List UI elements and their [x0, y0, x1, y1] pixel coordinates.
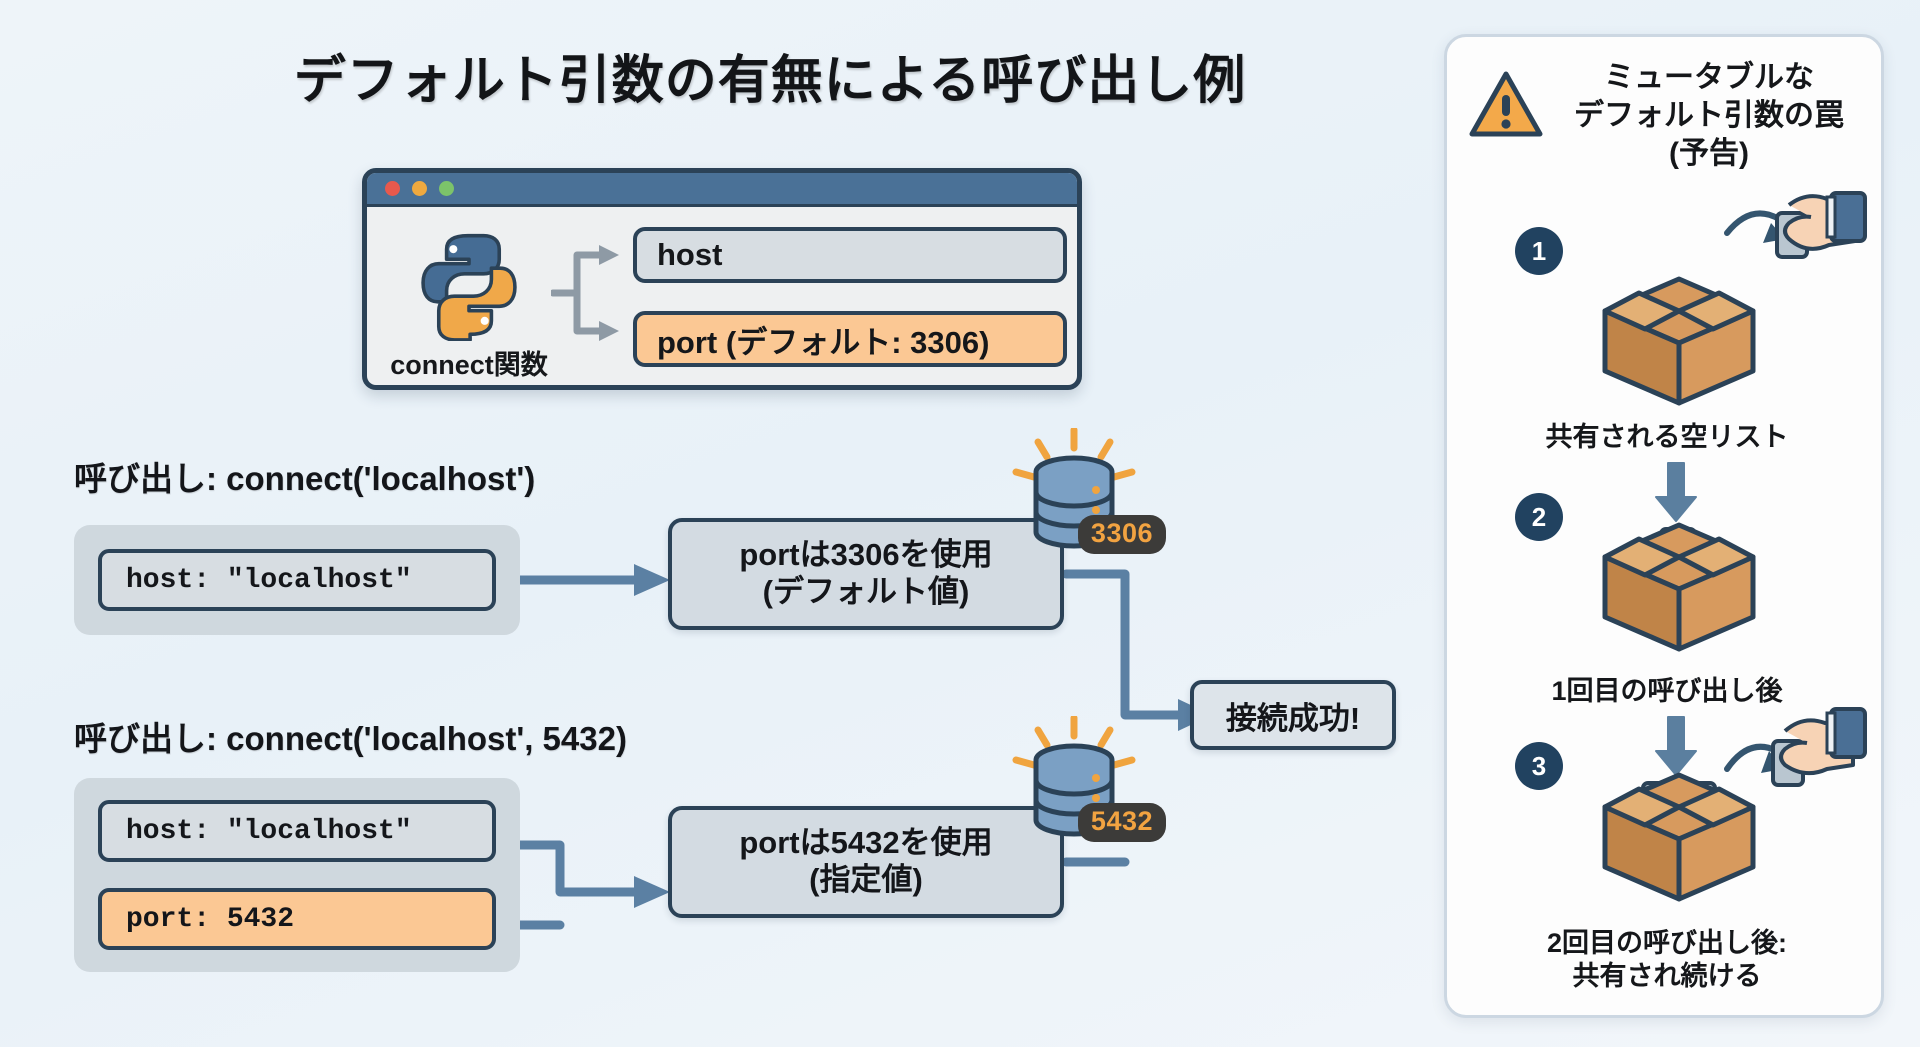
sidebar-title: ミュータブルな デフォルト引数の罠 (予告) [1553, 59, 1865, 172]
branch-connector [551, 237, 633, 349]
sidebar-title-line1: ミュータブルな [1553, 59, 1865, 97]
call-2-result-line1: portは5432を使用 [739, 825, 992, 862]
param-host-box: host [633, 227, 1067, 283]
call-2-arg-port: port: 5432 [98, 888, 496, 950]
cardboard-box-icon-1 [1581, 259, 1777, 409]
sidebar-panel: ミュータブルな デフォルト引数の罠 (予告) 1 共有される空リスト [1444, 34, 1884, 1018]
database-icon-2: 5432 [1008, 716, 1140, 866]
call-2-args-panel: host: "localhost" port: 5432 [74, 778, 520, 972]
step-number-3: 3 [1515, 742, 1563, 790]
window-title-bar [367, 173, 1077, 207]
function-label: connect関数 [385, 343, 553, 382]
call-1-result-line1: portは3306を使用 [739, 537, 992, 574]
sidebar-title-line2: デフォルト引数の罠 [1553, 97, 1865, 135]
window-body: connect関数 host port (デフォルト: 3306) [367, 207, 1077, 390]
call-1-result-box: portは3306を使用 (デフォルト値) [668, 518, 1064, 630]
call-1-arg-host: host: "localhost" [98, 549, 496, 611]
python-logo-icon [413, 229, 525, 341]
call-2-result-line2: (指定値) [809, 862, 923, 899]
call-2-result-box: portは5432を使用 (指定値) [668, 806, 1064, 918]
function-window-card: connect関数 host port (デフォルト: 3306) [362, 168, 1082, 390]
database-icon-1: 3306 [1008, 428, 1140, 578]
database-badge-1: 3306 [1078, 515, 1166, 554]
step-number-1: 1 [1515, 227, 1563, 275]
param-port-box: port (デフォルト: 3306) [633, 311, 1067, 367]
step-caption-3: 2回目の呼び出し後: 共有され続ける [1447, 927, 1884, 993]
cardboard-box-icon-3 [1581, 755, 1777, 905]
success-label: 接続成功! [1226, 693, 1360, 738]
page-title: デフォルト引数の有無による呼び出し例 [180, 38, 1360, 113]
step-number-2: 2 [1515, 493, 1563, 541]
diagram-canvas: デフォルト引数の有無による呼び出し例 connect関数 host [0, 0, 1920, 1047]
param-port-label: port (デフォルト: 3306) [657, 317, 989, 362]
maximize-green-dot-icon[interactable] [439, 181, 454, 196]
call-2-arg-host: host: "localhost" [98, 800, 496, 862]
step-caption-3-line2: 共有され続ける [1447, 960, 1884, 993]
close-red-dot-icon[interactable] [385, 181, 400, 196]
database-badge-2: 5432 [1078, 803, 1166, 842]
call-1-args-panel: host: "localhost" [74, 525, 520, 635]
sidebar-header: ミュータブルな デフォルト引数の罠 (予告) [1447, 59, 1884, 172]
call-label-2: 呼び出し: connect('localhost', 5432) [74, 712, 627, 760]
param-host-label: host [657, 237, 722, 273]
call-1-result-line2: (デフォルト値) [763, 574, 970, 611]
cardboard-box-icon-2 [1581, 505, 1777, 655]
step-caption-3-line1: 2回目の呼び出し後: [1447, 927, 1884, 960]
warning-triangle-icon [1469, 69, 1543, 139]
minimize-yellow-dot-icon[interactable] [412, 181, 427, 196]
sidebar-title-line3: (予告) [1553, 135, 1865, 173]
success-box: 接続成功! [1190, 680, 1396, 750]
step-caption-1: 共有される空リスト [1447, 421, 1884, 454]
call-label-1: 呼び出し: connect('localhost') [74, 452, 535, 500]
